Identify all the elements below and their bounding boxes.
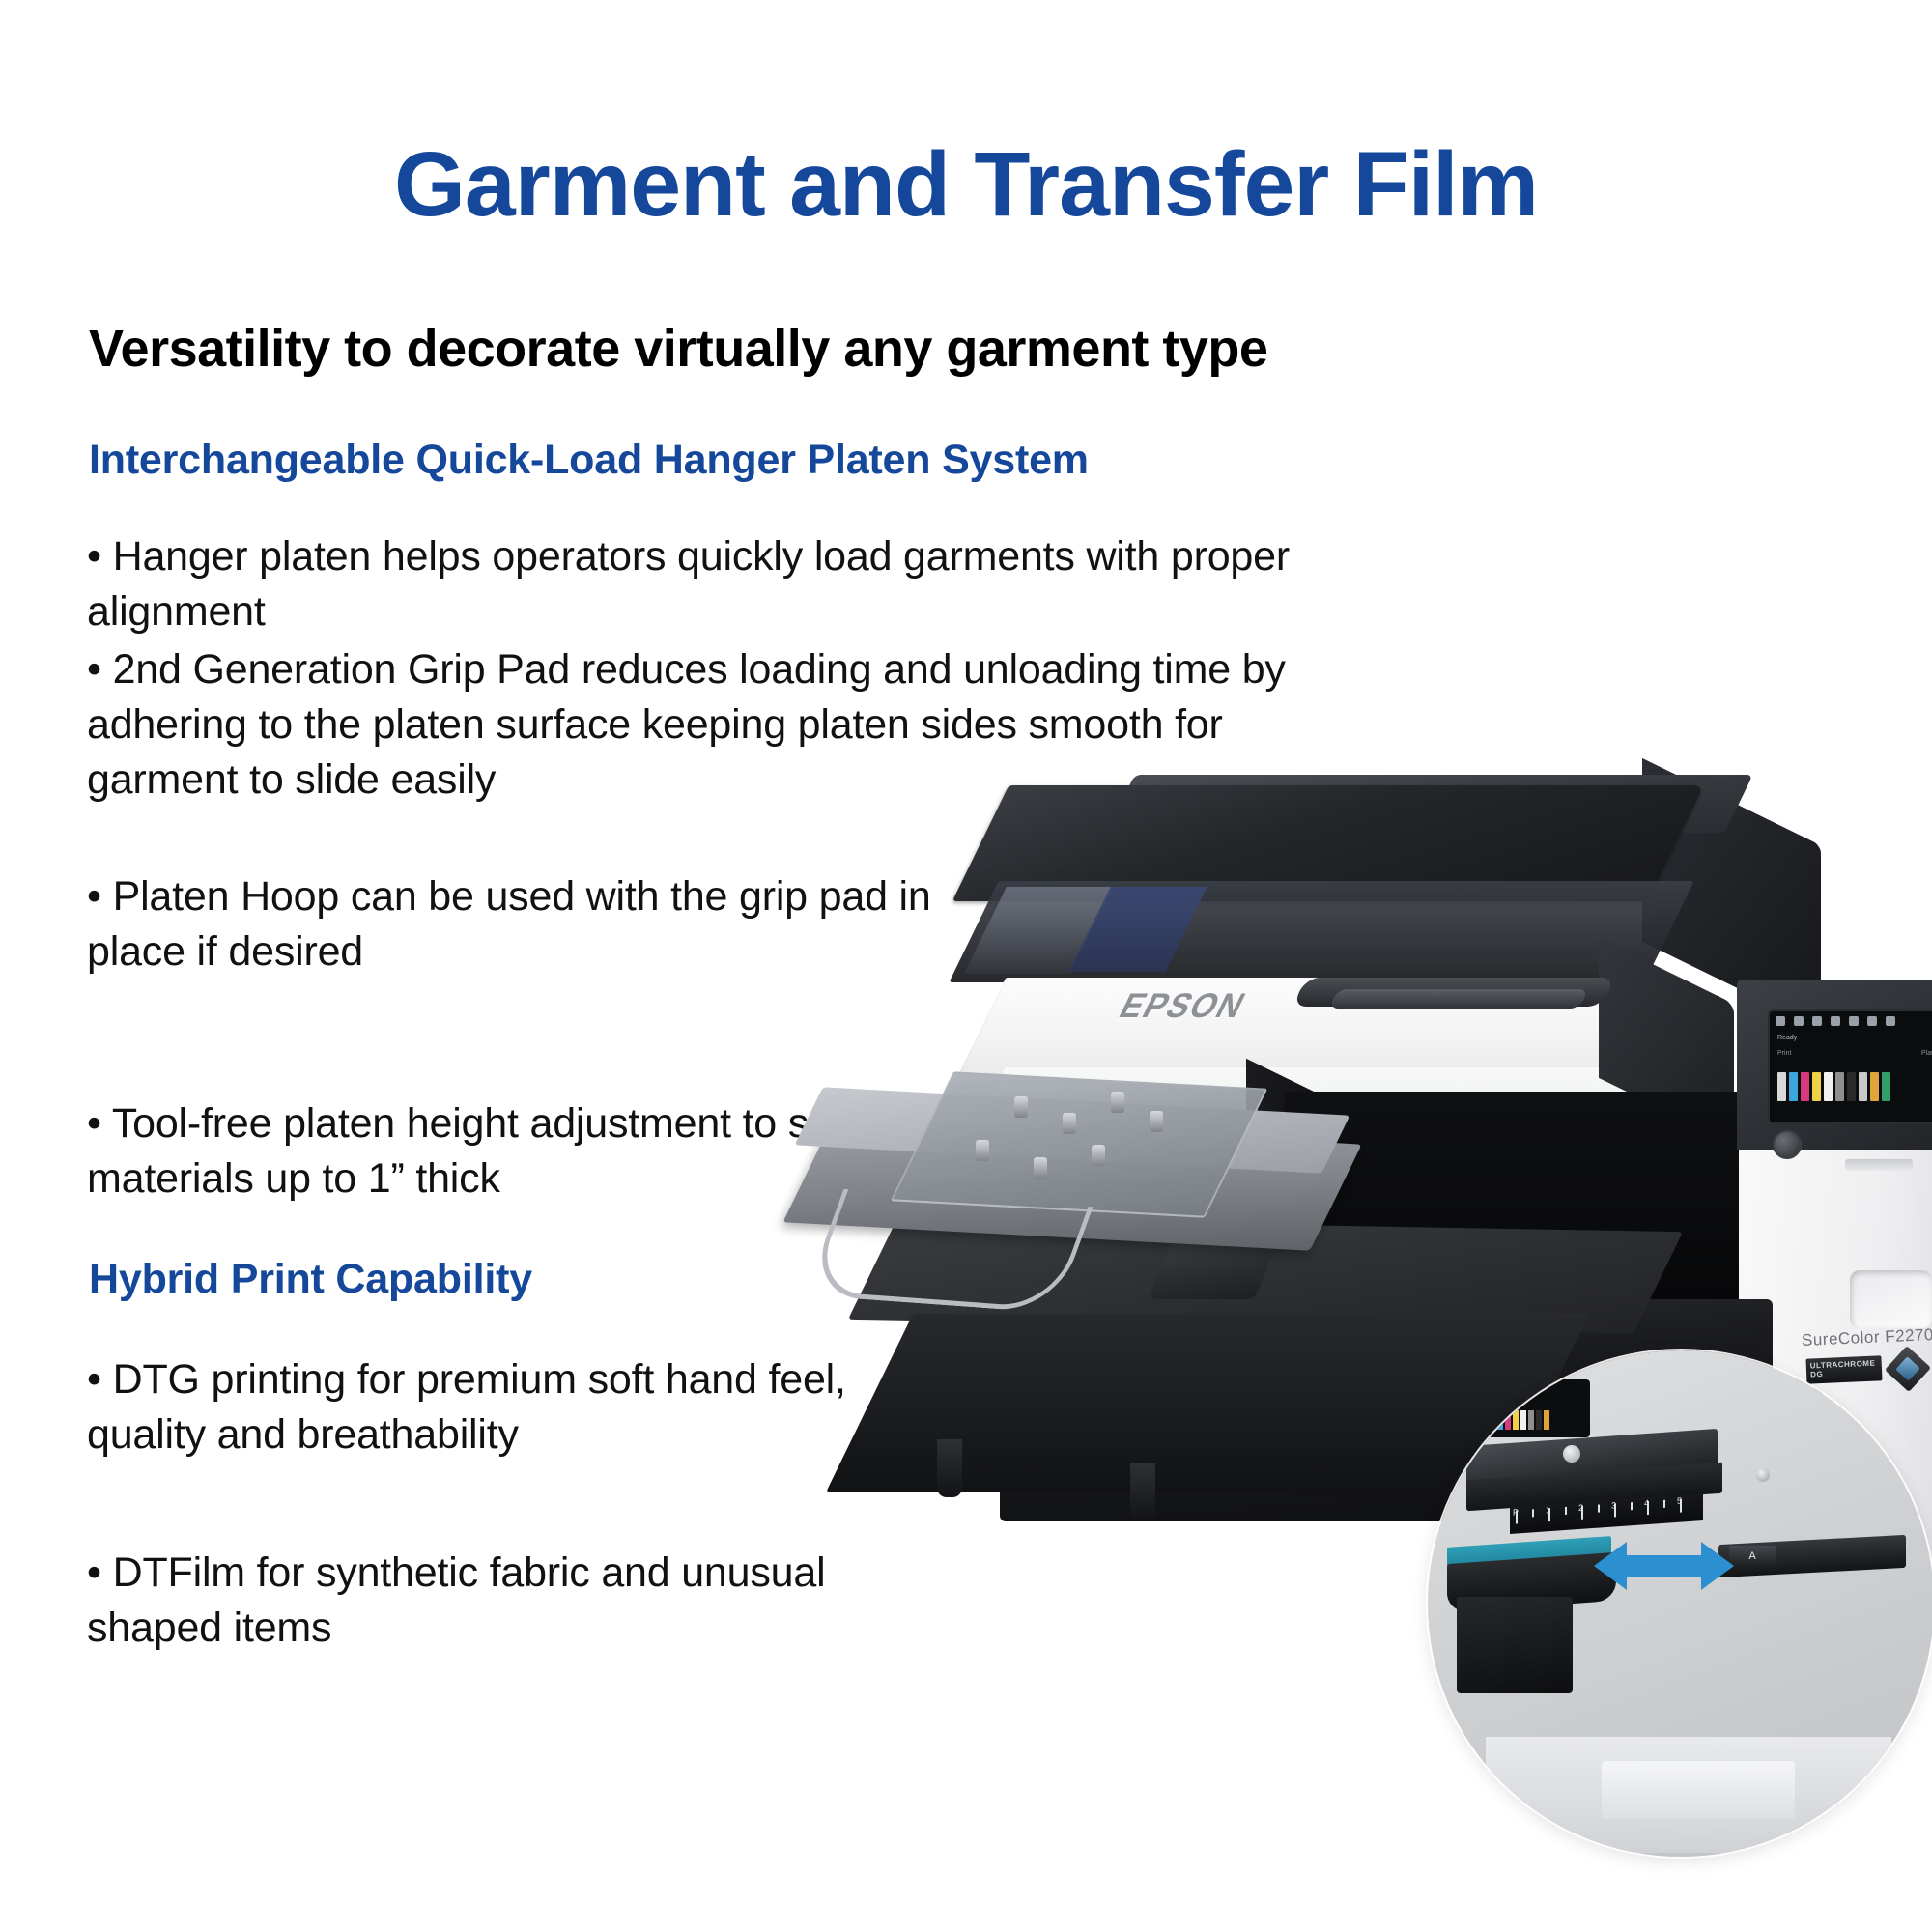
inset-rail-marker-label: A — [1729, 1546, 1776, 1567]
panel-network-icon[interactable] — [1867, 1016, 1877, 1026]
platen-post — [1150, 1111, 1163, 1132]
printer-foot-right — [1130, 1463, 1155, 1521]
panel-settings-icon[interactable] — [1886, 1016, 1895, 1026]
panel-media-icon[interactable] — [1812, 1016, 1822, 1026]
inset-rail-position-marker: A — [1729, 1546, 1776, 1567]
platen-post — [976, 1140, 989, 1161]
panel-menu-icon[interactable] — [1776, 1016, 1785, 1026]
panel-print-label: Print — [1777, 1050, 1791, 1057]
inset-screw-left — [1563, 1445, 1580, 1463]
bullet-platen-hoop: • Platen Hoop can be used with the grip … — [87, 869, 956, 980]
printer-lid-handle-grip — [1328, 989, 1589, 1009]
platen-post — [1034, 1157, 1047, 1179]
platen-post — [1111, 1092, 1124, 1113]
epson-brand-logo: EPSON — [1113, 985, 1254, 1025]
panel-platen-gap-label: Platen Gap — [1921, 1050, 1932, 1057]
bullet-dtg-printing: • DTG printing for premium soft hand fee… — [87, 1352, 937, 1463]
section-heading-platen-system: Interchangeable Quick-Load Hanger Platen… — [89, 437, 1089, 484]
platen-post — [1063, 1113, 1076, 1134]
panel-ink-level-bars — [1777, 1072, 1890, 1101]
bullet-hanger-platen: • Hanger platen helps operators quickly … — [87, 529, 1439, 639]
platen-post — [1092, 1145, 1105, 1166]
panel-status-text: Ready — [1777, 1035, 1797, 1041]
inset-ink-bars — [1490, 1410, 1549, 1430]
page-subtitle: Versatility to decorate virtually any ga… — [89, 319, 1267, 379]
bullet-dtfilm: • DTFilm for synthetic fabric and unusua… — [87, 1546, 937, 1656]
printer-power-button[interactable] — [1773, 1130, 1802, 1159]
inset-lower-tray — [1602, 1761, 1795, 1819]
printer-door-handle[interactable] — [1850, 1270, 1932, 1328]
panel-maintenance-icon[interactable] — [1831, 1016, 1840, 1026]
inset-screw-right — [1756, 1468, 1770, 1482]
platen-height-detail-inset: P12 345 A — [1428, 1350, 1932, 1857]
printer-foot-left — [937, 1439, 962, 1497]
inset-platen-mount-block — [1457, 1597, 1573, 1693]
printer-ink-technology-badge: ULTRACHROME DG — [1805, 1355, 1882, 1383]
page-title: Garment and Transfer Film — [0, 137, 1932, 234]
printer-tower-slot — [1845, 1159, 1913, 1171]
panel-icon-row — [1776, 1016, 1895, 1026]
printer-control-panel-screen[interactable]: Ready Print Platen Gap — [1768, 1009, 1932, 1124]
platen-post — [1014, 1096, 1028, 1118]
section-heading-hybrid-print: Hybrid Print Capability — [89, 1256, 532, 1303]
slide-canvas: Garment and Transfer Film Versatility to… — [0, 0, 1932, 1932]
panel-job-icon[interactable] — [1794, 1016, 1804, 1026]
panel-ink-icon[interactable] — [1849, 1016, 1859, 1026]
inset-double-arrow-icon — [1594, 1540, 1734, 1592]
inset-control-panel — [1484, 1379, 1590, 1437]
